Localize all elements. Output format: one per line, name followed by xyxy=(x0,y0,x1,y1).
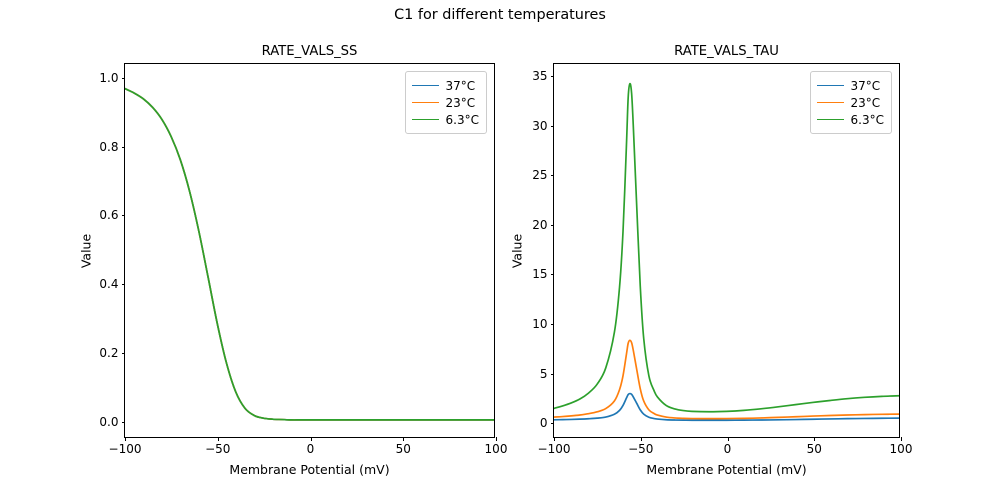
y-axis-label: Value xyxy=(509,233,524,267)
y-tick-label: 15 xyxy=(532,267,547,281)
x-tick-mark xyxy=(311,437,312,441)
legend-label: 6.3°C xyxy=(851,113,884,127)
series-line xyxy=(554,394,899,421)
x-tick-label: −100 xyxy=(109,442,142,456)
legend-line-icon xyxy=(817,119,844,120)
legend-line-icon xyxy=(412,119,439,120)
legend-entry[interactable]: 37°C xyxy=(412,77,479,94)
legend: 37°C23°C6.3°C xyxy=(810,71,892,134)
legend-label: 37°C xyxy=(446,79,476,93)
y-tick-label: 0.2 xyxy=(99,346,118,360)
x-tick-mark xyxy=(728,437,729,441)
y-tick-label: 0.8 xyxy=(99,140,118,154)
x-tick-mark xyxy=(814,437,815,441)
y-tick-mark xyxy=(122,422,126,423)
legend-entry[interactable]: 6.3°C xyxy=(817,111,884,128)
legend-entry[interactable]: 37°C xyxy=(817,77,884,94)
legend-label: 23°C xyxy=(851,96,881,110)
x-tick-mark xyxy=(641,437,642,441)
x-tick-label: 0 xyxy=(724,442,732,456)
x-tick-mark xyxy=(901,437,902,441)
x-tick-mark xyxy=(554,437,555,441)
y-tick-label: 20 xyxy=(532,218,547,232)
matplotlib-figure: C1 for different temperatures RATE_VALS_… xyxy=(0,0,1000,500)
legend-label: 23°C xyxy=(446,96,476,110)
y-tick-label: 0.4 xyxy=(99,277,118,291)
y-tick-mark xyxy=(551,225,555,226)
y-tick-mark xyxy=(551,126,555,127)
x-tick-label: −100 xyxy=(538,442,571,456)
legend-entry[interactable]: 6.3°C xyxy=(412,111,479,128)
series-line xyxy=(125,89,494,420)
series-line xyxy=(125,89,494,420)
series-line xyxy=(554,340,899,418)
x-tick-mark xyxy=(218,437,219,441)
legend-label: 37°C xyxy=(851,79,881,93)
y-tick-label: 25 xyxy=(532,168,547,182)
y-tick-mark xyxy=(122,147,126,148)
y-tick-mark xyxy=(551,324,555,325)
figure-suptitle: C1 for different temperatures xyxy=(0,7,1000,23)
subplot-rate-vals-tau: RATE_VALS_TAU Value Membrane Potential (… xyxy=(553,63,900,438)
y-tick-label: 35 xyxy=(532,69,547,83)
x-tick-mark xyxy=(496,437,497,441)
x-axis-label: Membrane Potential (mV) xyxy=(125,462,494,477)
y-tick-mark xyxy=(551,175,555,176)
y-tick-label: 0.6 xyxy=(99,208,118,222)
x-tick-label: 50 xyxy=(396,442,411,456)
legend-label: 6.3°C xyxy=(446,113,479,127)
y-tick-label: 1.0 xyxy=(99,71,118,85)
x-tick-label: −50 xyxy=(205,442,230,456)
legend: 37°C23°C6.3°C xyxy=(405,71,487,134)
x-axis-label: Membrane Potential (mV) xyxy=(554,462,899,477)
y-tick-label: 5 xyxy=(540,367,548,381)
y-tick-label: 0.0 xyxy=(99,415,118,429)
y-axis-label: Value xyxy=(78,233,93,267)
x-tick-label: 50 xyxy=(807,442,822,456)
y-tick-mark xyxy=(122,78,126,79)
y-tick-mark xyxy=(551,274,555,275)
y-tick-label: 0 xyxy=(540,416,548,430)
legend-line-icon xyxy=(817,85,844,86)
y-tick-mark xyxy=(122,215,126,216)
subplot-title: RATE_VALS_SS xyxy=(125,44,494,59)
series-line xyxy=(125,89,494,420)
y-tick-mark xyxy=(122,284,126,285)
subplot-rate-vals-ss: RATE_VALS_SS Value Membrane Potential (m… xyxy=(124,63,495,438)
legend-entry[interactable]: 23°C xyxy=(412,94,479,111)
x-tick-mark xyxy=(125,437,126,441)
y-tick-label: 30 xyxy=(532,119,547,133)
legend-entry[interactable]: 23°C xyxy=(817,94,884,111)
subplot-title: RATE_VALS_TAU xyxy=(554,44,899,59)
x-tick-label: −50 xyxy=(628,442,653,456)
y-tick-mark xyxy=(551,423,555,424)
y-tick-mark xyxy=(551,76,555,77)
y-tick-label: 10 xyxy=(532,317,547,331)
y-tick-mark xyxy=(122,353,126,354)
x-tick-mark xyxy=(403,437,404,441)
legend-line-icon xyxy=(817,102,844,103)
y-tick-mark xyxy=(551,374,555,375)
legend-line-icon xyxy=(412,85,439,86)
x-tick-label: 100 xyxy=(890,442,913,456)
x-tick-label: 0 xyxy=(307,442,315,456)
legend-line-icon xyxy=(412,102,439,103)
x-tick-label: 100 xyxy=(485,442,508,456)
